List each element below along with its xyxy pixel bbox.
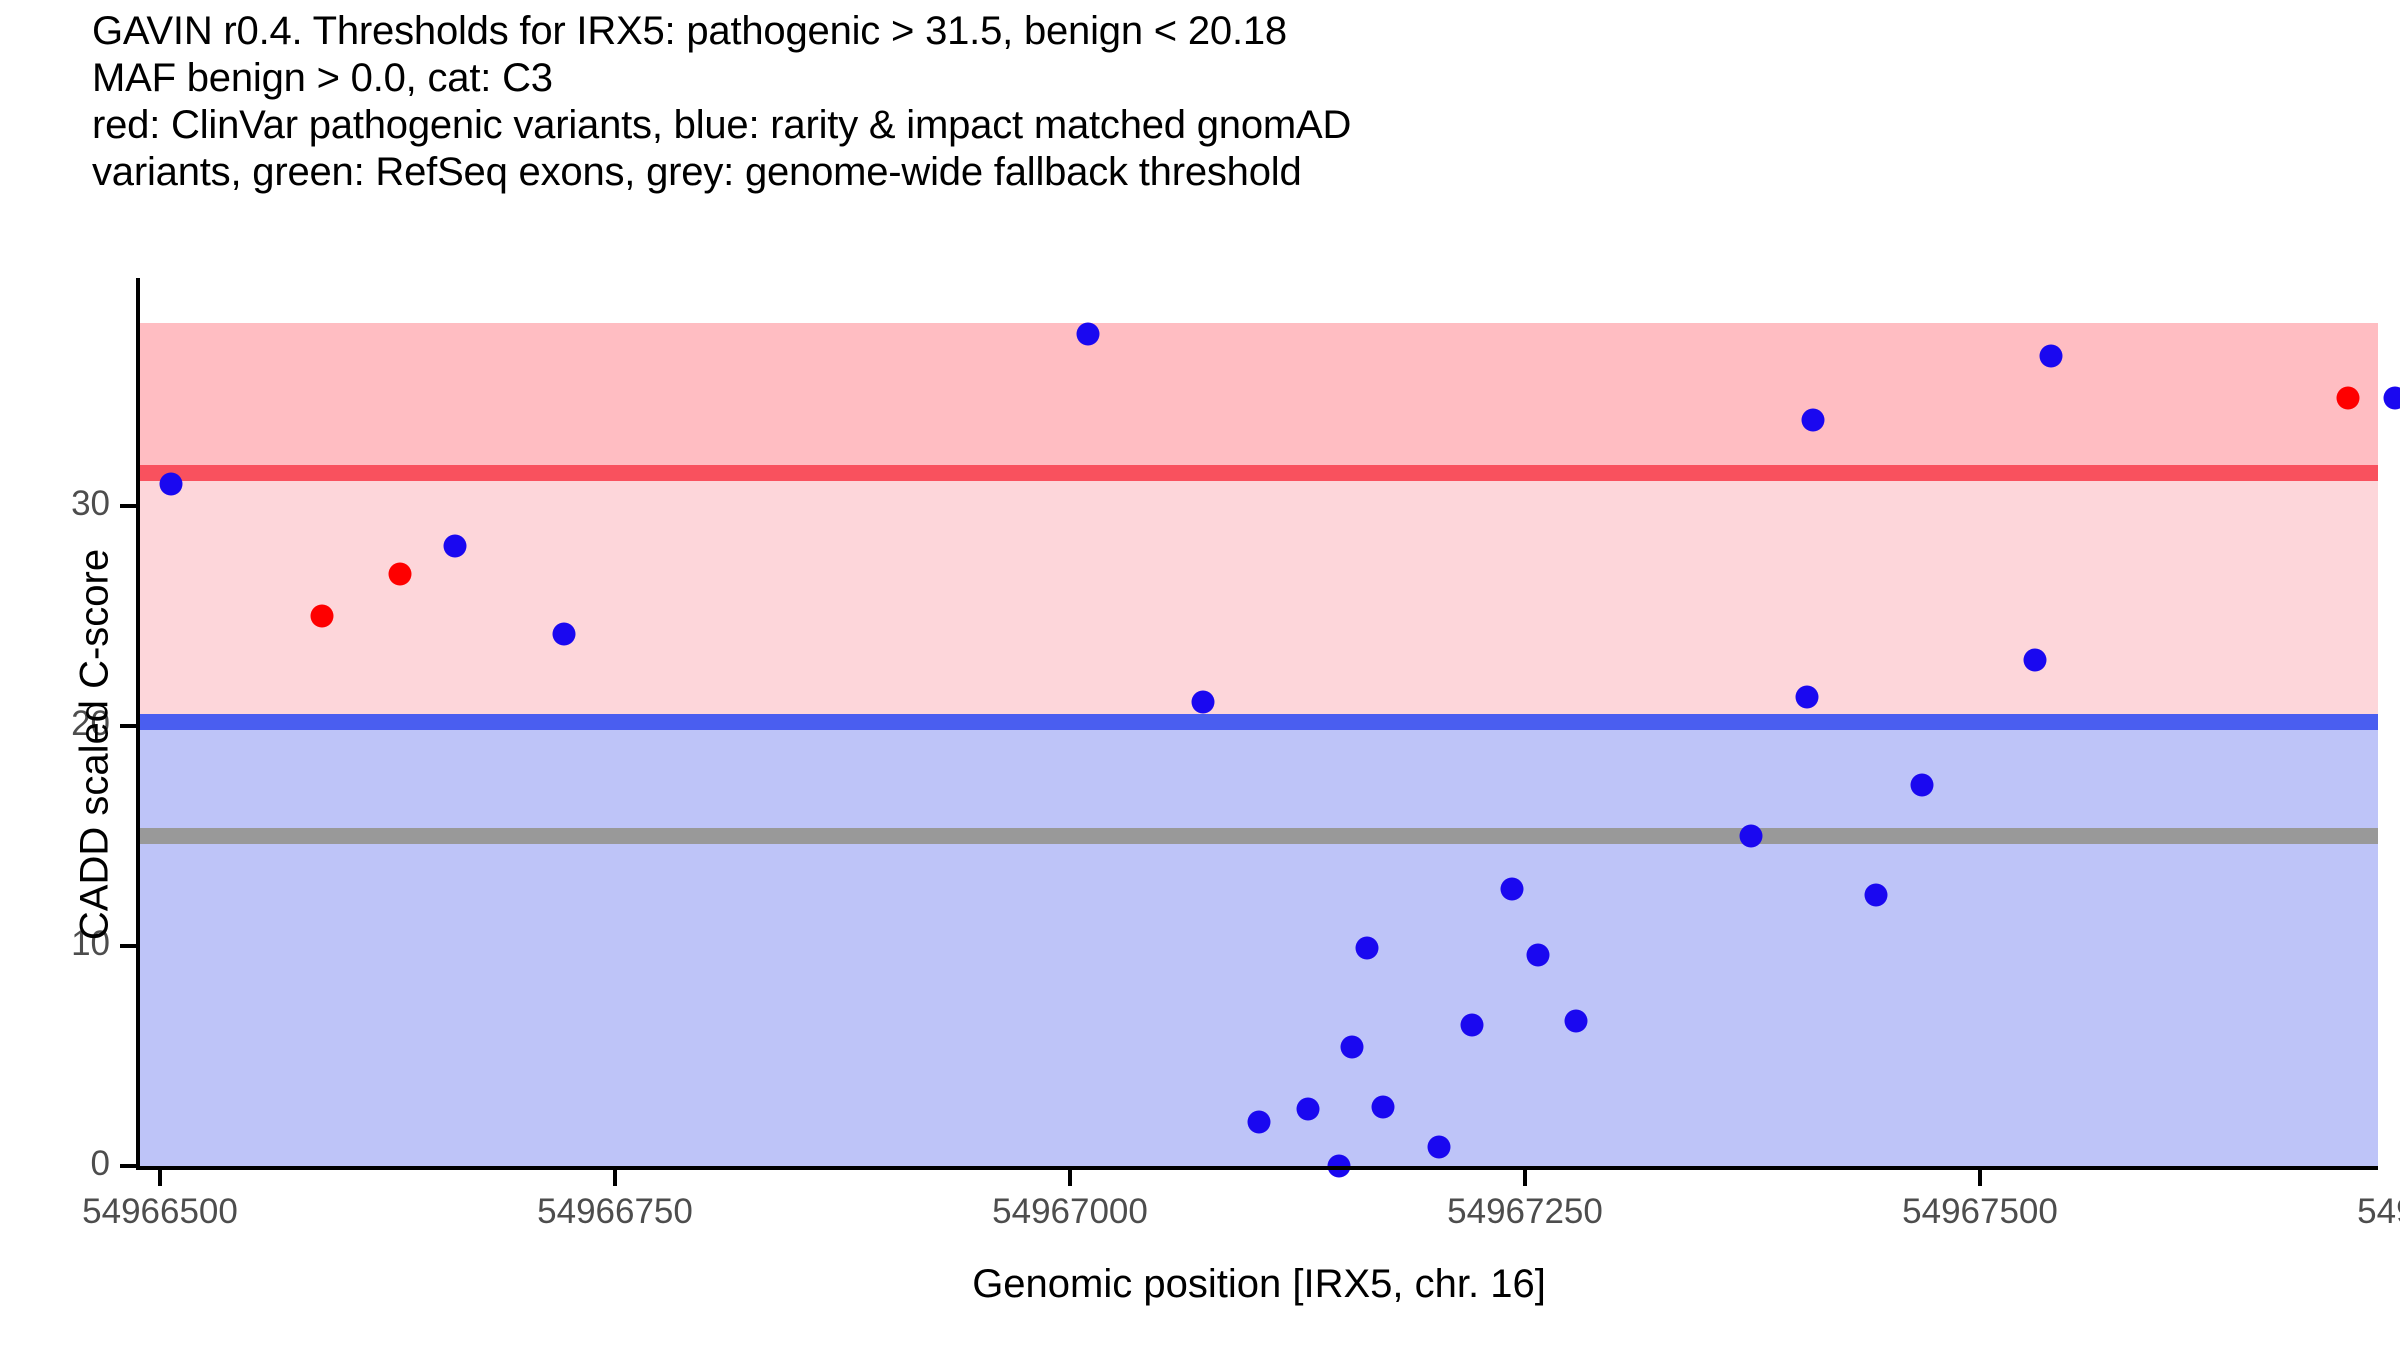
y-axis-tick: [120, 944, 136, 948]
y-axis-tick: [120, 504, 136, 508]
chart-root: GAVIN r0.4. Thresholds for IRX5: pathoge…: [0, 0, 2400, 1350]
data-point[interactable]: [553, 622, 576, 645]
x-axis-tick: [1523, 1170, 1527, 1186]
data-point[interactable]: [2023, 649, 2046, 672]
y-axis-line: [136, 278, 140, 1170]
x-axis-tick: [158, 1170, 162, 1186]
fallback-threshold-line: [140, 828, 2378, 844]
x-axis-tick-label: 54967000: [992, 1192, 1148, 1232]
data-point[interactable]: [1428, 1136, 1451, 1159]
x-axis-tick-label: 54966500: [82, 1192, 238, 1232]
vous-band: [140, 473, 2378, 722]
data-point[interactable]: [1796, 686, 1819, 709]
data-point[interactable]: [1372, 1095, 1395, 1118]
pathogenic-band: [140, 323, 2378, 473]
x-axis-tick-label: 54967250: [1447, 1192, 1603, 1232]
data-point[interactable]: [1526, 943, 1549, 966]
data-point[interactable]: [2039, 345, 2062, 368]
benign-band: [140, 722, 2378, 1166]
x-axis-line: [140, 1166, 2378, 1170]
data-point[interactable]: [1297, 1097, 1320, 1120]
data-point[interactable]: [1865, 884, 1888, 907]
data-point[interactable]: [1564, 1009, 1587, 1032]
y-axis-tick: [120, 724, 136, 728]
data-point[interactable]: [1248, 1111, 1271, 1134]
data-point[interactable]: [1739, 825, 1762, 848]
pathogenic-threshold-line: [140, 465, 2378, 481]
data-point[interactable]: [1191, 690, 1214, 713]
data-point[interactable]: [1355, 937, 1378, 960]
title-line-1: GAVIN r0.4. Thresholds for IRX5: pathoge…: [92, 8, 2352, 55]
y-axis-title: CADD scaled C-score: [73, 295, 118, 1195]
data-point[interactable]: [1801, 409, 1824, 432]
data-point[interactable]: [310, 605, 333, 628]
data-point[interactable]: [1341, 1036, 1364, 1059]
y-axis-tick: [120, 1164, 136, 1168]
data-point[interactable]: [2383, 387, 2400, 410]
title-line-2: MAF benign > 0.0, cat: C3: [92, 55, 2352, 102]
data-point[interactable]: [443, 534, 466, 557]
chart-title-block: GAVIN r0.4. Thresholds for IRX5: pathoge…: [92, 8, 2352, 196]
data-point[interactable]: [1910, 774, 1933, 797]
data-point[interactable]: [1077, 323, 1100, 346]
data-point[interactable]: [159, 473, 182, 496]
x-axis-title: Genomic position [IRX5, chr. 16]: [140, 1262, 2378, 1307]
data-point[interactable]: [2336, 387, 2359, 410]
x-axis-tick: [613, 1170, 617, 1186]
benign-threshold-line: [140, 714, 2378, 730]
title-line-3: red: ClinVar pathogenic variants, blue: …: [92, 102, 2352, 149]
data-point[interactable]: [1461, 1014, 1484, 1037]
x-axis-tick: [1068, 1170, 1072, 1186]
data-point[interactable]: [389, 563, 412, 586]
x-axis-tick: [1978, 1170, 1982, 1186]
data-point[interactable]: [1501, 877, 1524, 900]
plot-panel: [140, 278, 2378, 1166]
title-line-4: variants, green: RefSeq exons, grey: gen…: [92, 149, 2352, 196]
x-axis-tick-label: 54967500: [1902, 1192, 2058, 1232]
x-axis-tick-label: 54967750: [2357, 1192, 2400, 1232]
x-axis-tick-label: 54966750: [537, 1192, 693, 1232]
